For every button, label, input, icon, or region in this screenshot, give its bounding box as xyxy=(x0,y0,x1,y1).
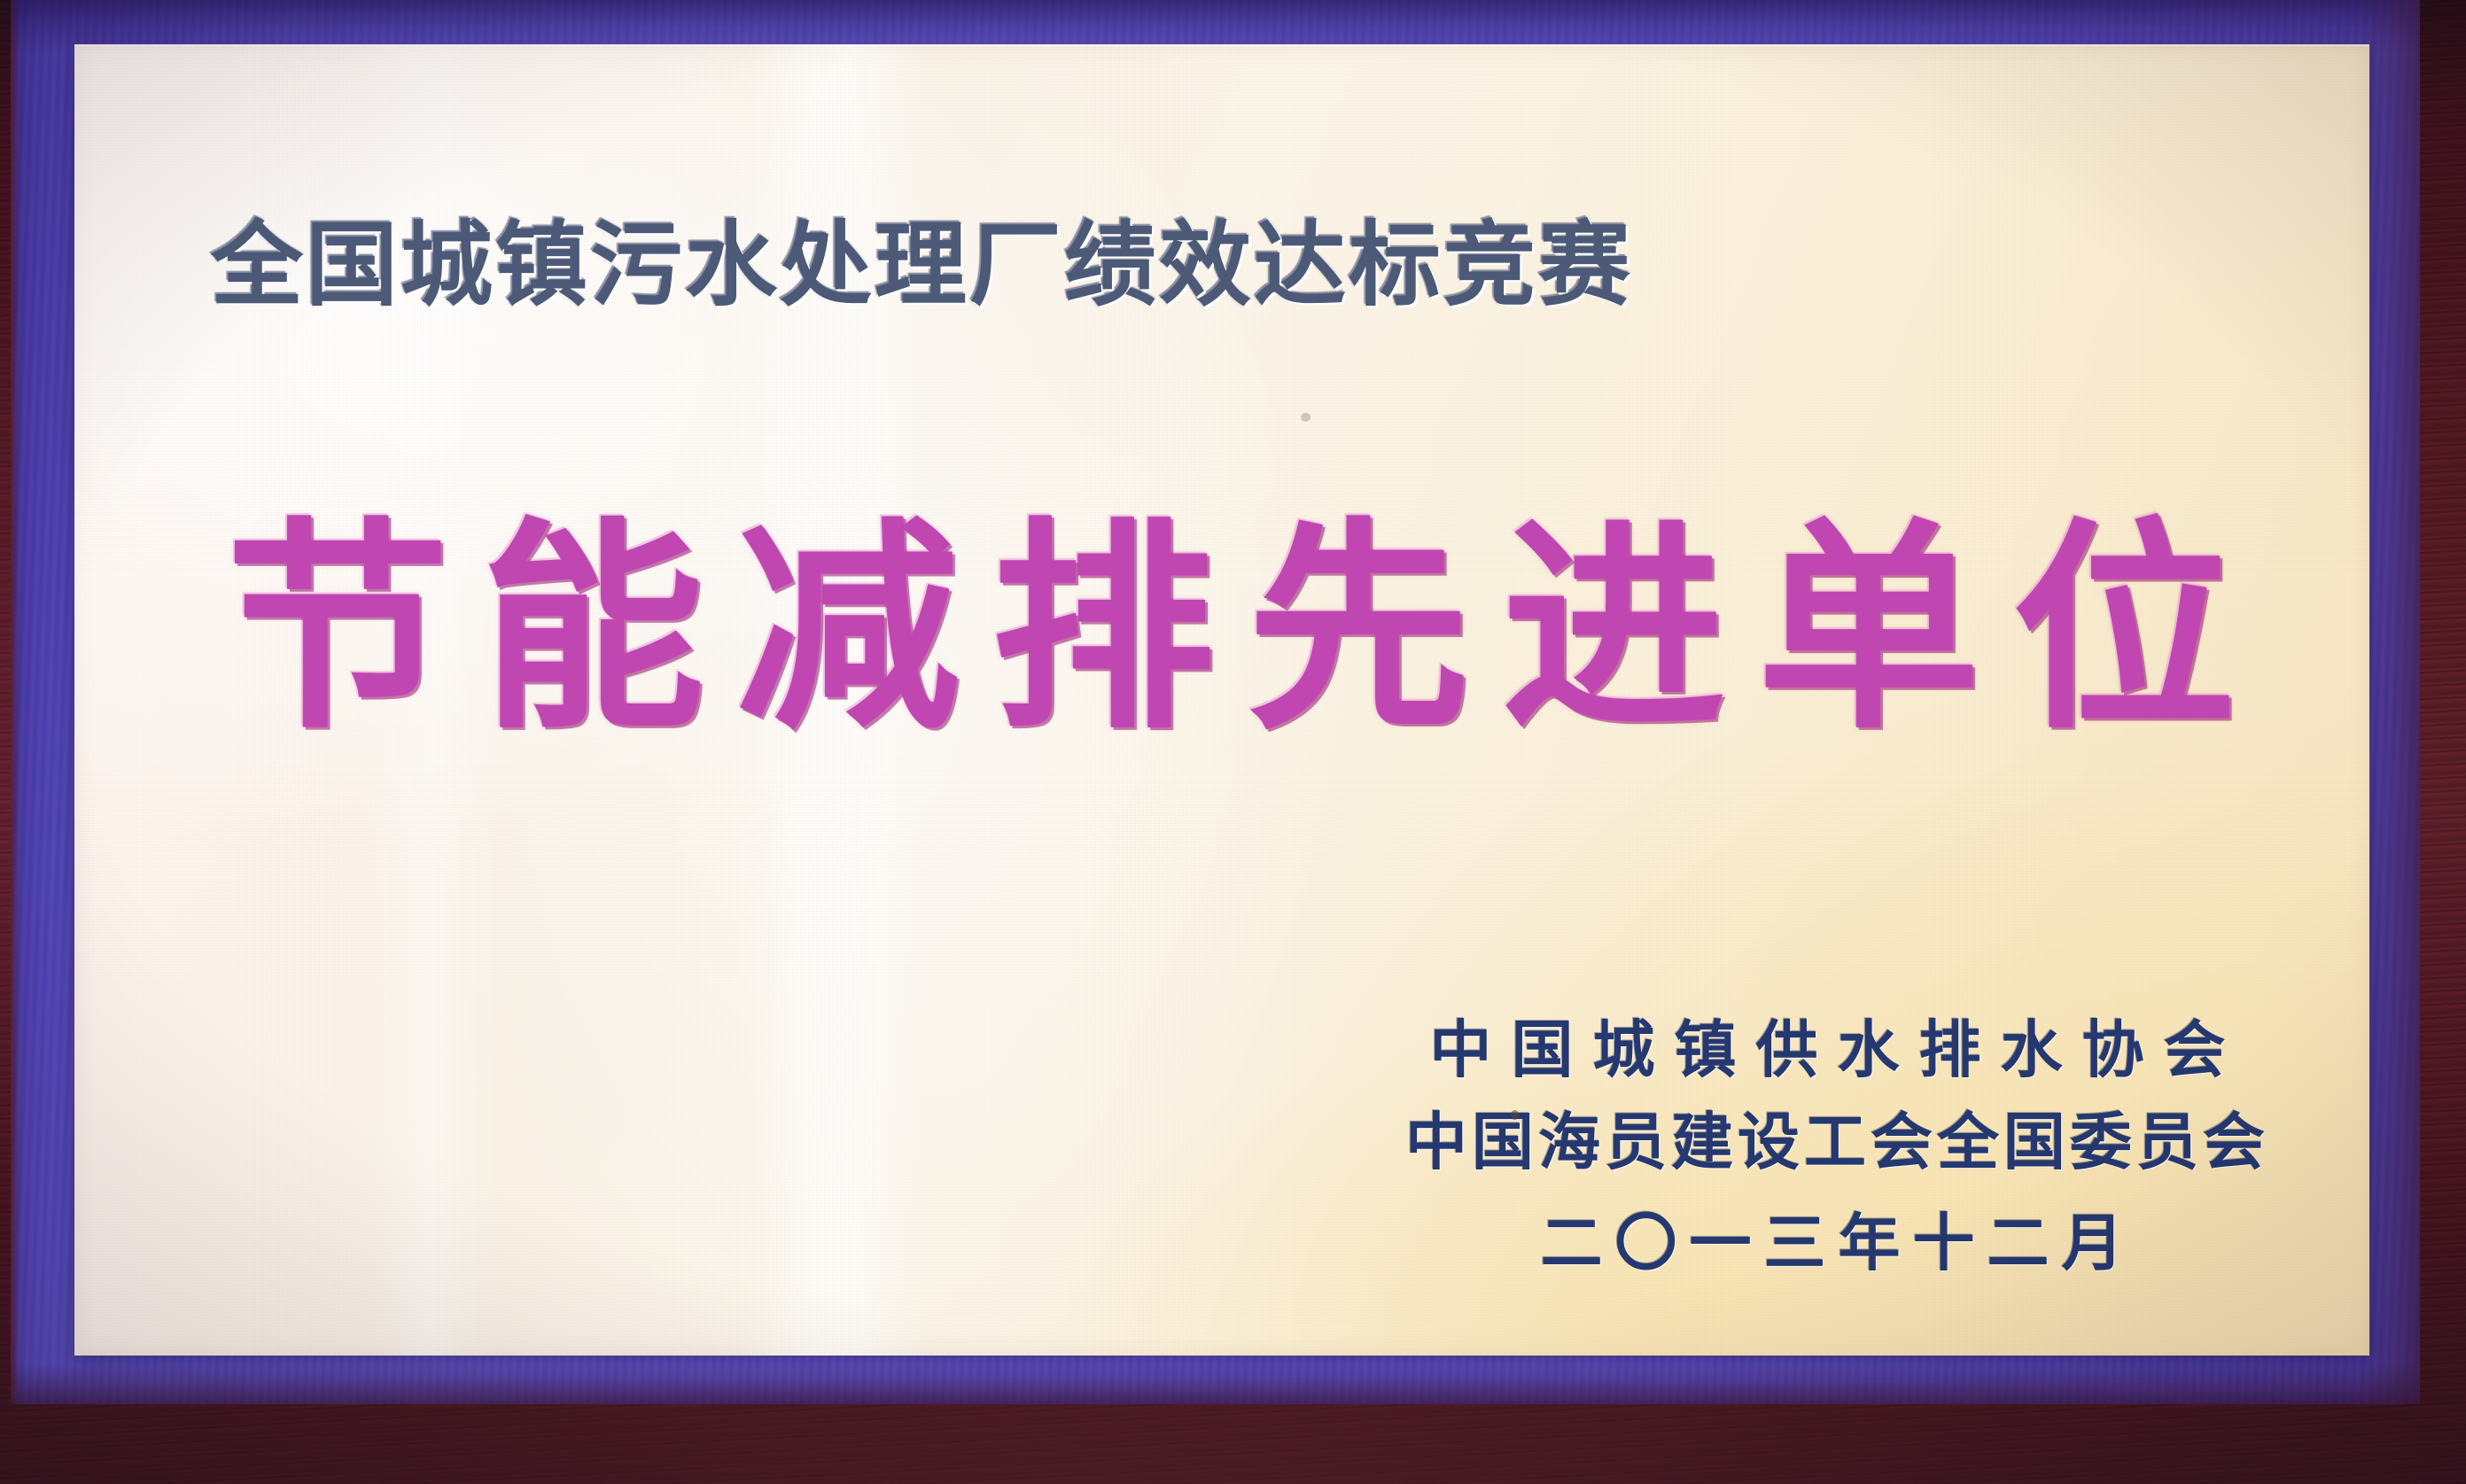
mat-bottom-shadow xyxy=(11,1364,2420,1404)
issuer-organization-secondary: 中国海员建设工会全国委员会 xyxy=(1395,1111,2269,1173)
issuer-organization-primary: 中国城镇供水排水协会 xyxy=(1395,1019,2269,1081)
issuer-block: 中国城镇供水排水协会 中国海员建设工会全国委员会 二〇一三年十二月 xyxy=(1395,1019,2269,1274)
award-title: 节能减排先进单位 xyxy=(226,518,2264,742)
issue-date: 二〇一三年十二月 xyxy=(1395,1212,2269,1274)
mat-left-edge-shadow xyxy=(11,0,19,1404)
plaque-photo: 全国城镇污水处理厂绩效达标竞赛 节能减排先进单位 中国城镇供水排水协会 中国海员… xyxy=(0,0,2466,1484)
competition-header: 全国城镇污水处理厂绩效达标竞赛 xyxy=(211,215,1633,315)
